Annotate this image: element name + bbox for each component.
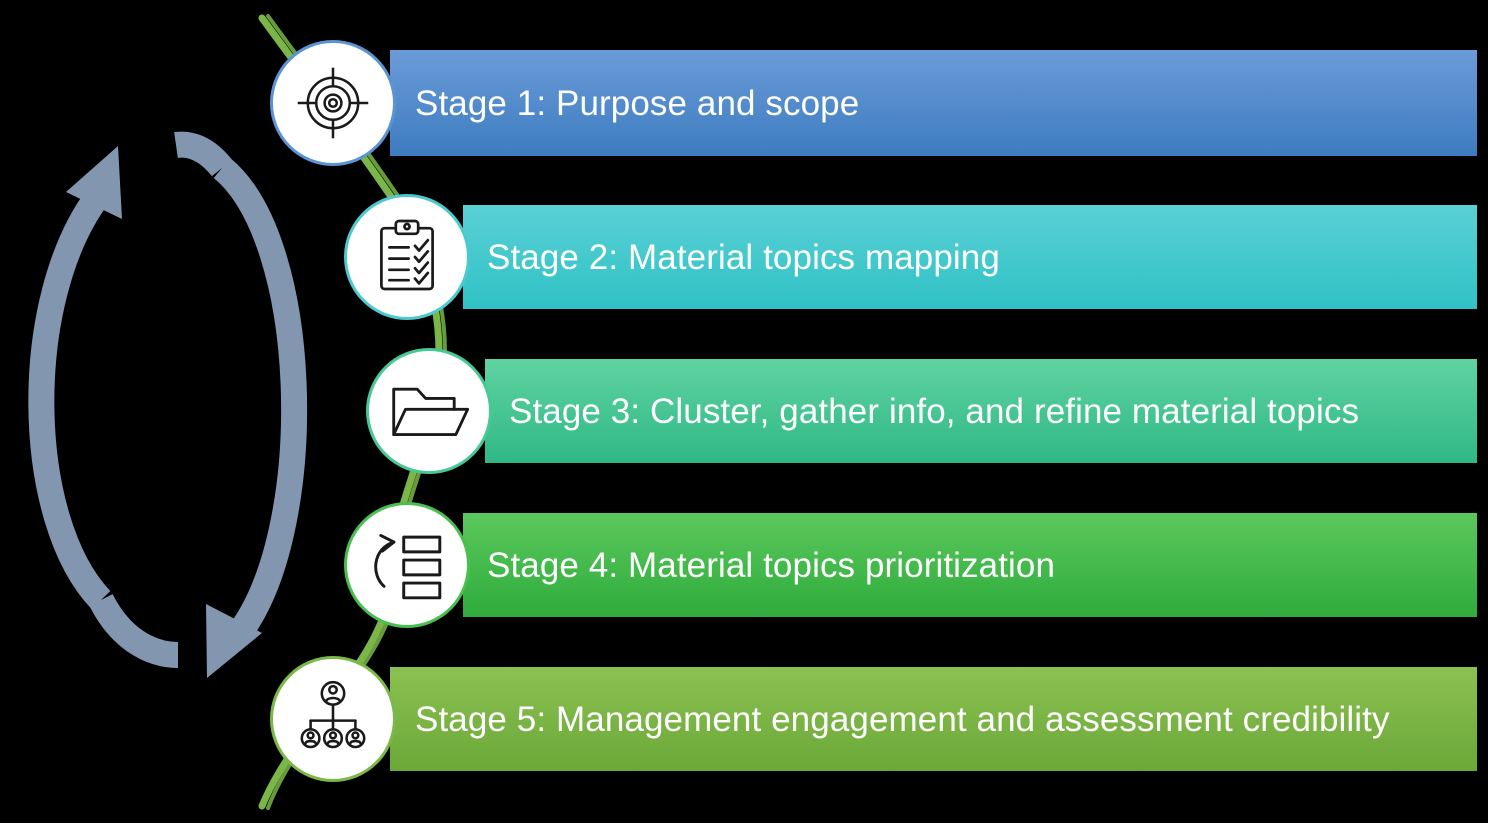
target-icon xyxy=(291,61,375,145)
stage-icon-circle[interactable] xyxy=(270,656,396,782)
stage-icon-circle[interactable] xyxy=(270,40,396,166)
org-chart-icon xyxy=(293,679,373,759)
clipboard-check-icon xyxy=(367,217,447,297)
stage-icons-layer xyxy=(0,0,1488,823)
stage-icon-circle[interactable] xyxy=(344,502,470,628)
stage-icon-circle[interactable] xyxy=(344,194,470,320)
stage-icon-circle[interactable] xyxy=(366,348,492,474)
diagram-canvas: Stage 1: Purpose and scope Stage 2: Mate… xyxy=(0,0,1488,823)
prioritize-list-icon xyxy=(366,524,448,606)
open-folder-icon xyxy=(387,369,471,453)
